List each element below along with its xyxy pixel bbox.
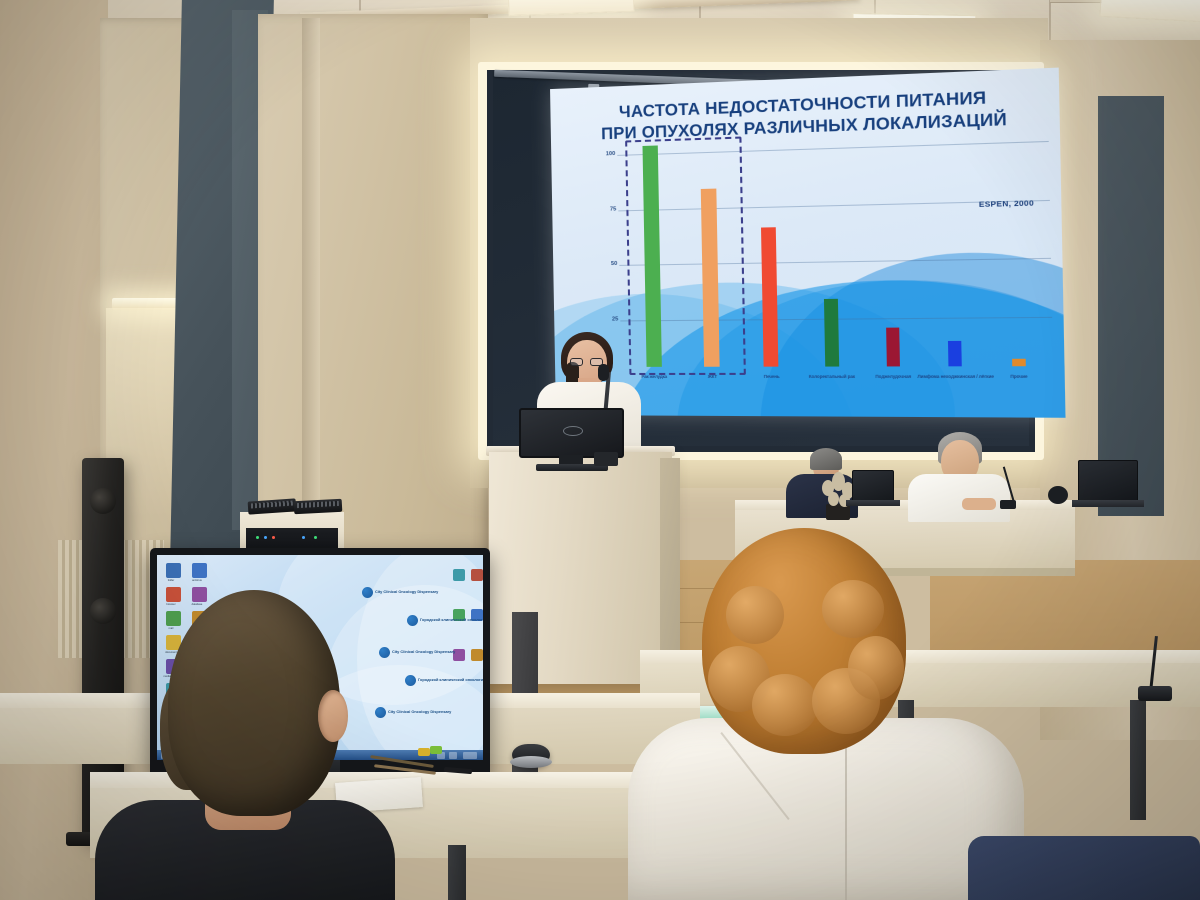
attendee-left-ear	[318, 690, 348, 742]
browser-icon[interactable]	[166, 587, 181, 602]
taskbar-tray-icon[interactable]	[449, 752, 457, 759]
desk-leg	[1130, 700, 1146, 820]
x-axis-tick-label: Печень	[764, 374, 780, 379]
brand-mark-icon	[379, 647, 390, 658]
brand-mark-icon	[405, 675, 416, 686]
wallpaper-logo-en-2: City Clinical Oncology Dispensary	[379, 647, 455, 658]
y-axis-tick-label: 100	[595, 151, 615, 158]
wallpaper-logo-en-3: City Clinical Oncology Dispensary	[375, 707, 451, 718]
y-axis-tick-label: 75	[596, 206, 616, 213]
chart-bar	[761, 227, 778, 367]
panelist-right-hands	[962, 498, 996, 510]
desktop-icon-label: database	[184, 603, 210, 606]
taskbar-clock[interactable]	[463, 752, 477, 759]
database-icon[interactable]	[471, 569, 483, 581]
attendee-right-hair	[702, 528, 906, 754]
panel-monitor-right-base	[1072, 500, 1144, 507]
chart-bar	[701, 188, 720, 367]
x-axis-tick-label: Колоректальный рак	[809, 374, 855, 379]
brand-mark-icon	[362, 587, 373, 598]
chart-bar	[948, 341, 962, 366]
presenter-glasses	[570, 358, 603, 366]
podium-microphone-head	[598, 364, 609, 381]
panel-microphone-base	[1000, 500, 1016, 509]
folder-icon[interactable]	[166, 563, 181, 578]
x-axis-tick-label: Прочие	[1010, 374, 1027, 379]
desktop-icon-database[interactable]: database	[189, 587, 209, 609]
monitor-brand-logo	[563, 426, 583, 436]
panel-laptop-left	[852, 470, 894, 502]
brand-mark-icon	[375, 707, 386, 718]
wall-right-accent	[1098, 96, 1164, 516]
desktop-icon-database[interactable]	[471, 569, 483, 585]
desktop-icon-mail[interactable]: mail	[163, 611, 183, 633]
wallpaper-logo-ru-2: Городской клинический онкологический дис…	[405, 675, 483, 686]
audio-mixer-right	[294, 499, 343, 514]
desk-leg	[448, 845, 466, 900]
panel-monitor-right	[1078, 460, 1138, 502]
desktop-icon-label: mail	[158, 627, 184, 630]
chart-bar	[1012, 359, 1026, 366]
highlighter-yellow	[418, 748, 430, 756]
antivirus-icon[interactable]	[192, 563, 207, 578]
archive-icon[interactable]	[471, 649, 483, 661]
chart-bar	[823, 298, 838, 366]
bar-chart: 255075100 Рак желудкаЖКТПеченьКолоректал…	[595, 104, 1054, 391]
presentation-slide: ЧАСТОТА НЕДОСТАТОЧНОСТИ ПИТАНИЯ ПРИ ОПУХ…	[550, 68, 1065, 418]
wallpaper-brand-en-2: City Clinical Oncology Dispensary	[392, 650, 455, 655]
desktop-icon-archive[interactable]	[471, 649, 483, 665]
desktop-icon-antivirus[interactable]: antivirus	[189, 563, 209, 585]
network-icon[interactable]	[453, 569, 465, 581]
panelist-right-torso	[908, 474, 1010, 522]
desktop-icon-label: browser	[158, 603, 184, 606]
y-axis-tick-label: 25	[598, 316, 618, 322]
desktop-icon-folder[interactable]: folder	[163, 563, 183, 585]
y-axis-tick-label: 50	[597, 261, 617, 267]
chart-bar	[886, 328, 900, 367]
wallpaper-brand-en-3: City Clinical Oncology Dispensary	[388, 710, 451, 715]
x-axis-tick-label: Рак желудка	[641, 374, 667, 379]
highlighter-green	[430, 746, 442, 754]
desktop-icon-notes[interactable]	[453, 649, 469, 665]
x-axis-tick-label: Лимфома неходжкинская / лёгкие	[917, 374, 994, 379]
attendee-left-head	[168, 590, 340, 816]
desktop-icon-label: folder	[158, 579, 184, 582]
conference-microphone-ring	[510, 756, 552, 768]
podium-microphone-base	[594, 452, 618, 466]
desktop-icon-browser[interactable]: browser	[163, 587, 183, 609]
x-axis-tick-label: Поджелудочная	[875, 374, 911, 379]
conference-hall-photo: ЧАСТОТА НЕДОСТАТОЧНОСТИ ПИТАНИЯ ПРИ ОПУХ…	[0, 0, 1200, 900]
blouse-seam	[845, 730, 847, 900]
mail-icon[interactable]	[166, 611, 181, 626]
database-icon[interactable]	[192, 587, 207, 602]
podium-side	[660, 458, 680, 678]
chart-bars: Рак желудкаЖКТПеченьКолоректальный ракПо…	[621, 132, 1051, 366]
wallpaper-brand-en-1: City Clinical Oncology Dispensary	[375, 590, 438, 595]
panel-laptop-left-base	[846, 500, 900, 506]
table-flower-arrangement	[820, 470, 856, 516]
gooseneck-microphone-base	[1138, 686, 1172, 701]
x-axis-tick-label: ЖКТ	[708, 374, 717, 379]
panelist-left-hair	[810, 448, 842, 470]
desktop-icon-network[interactable]	[453, 569, 469, 585]
desktop-icon-label: antivirus	[184, 579, 210, 582]
wallpaper-brand-ru-1: Городской клинический онкологический дис…	[420, 618, 483, 623]
wallpaper-brand-ru-2: Городской клинический онкологический дис…	[418, 678, 483, 683]
panel-camera	[1048, 486, 1068, 504]
brand-mark-icon	[407, 615, 418, 626]
wallpaper-logo-en: City Clinical Oncology Dispensary	[362, 587, 438, 598]
chair-backrest	[968, 836, 1200, 900]
wallpaper-logo-ru: Городской клинический онкологический дис…	[407, 615, 483, 626]
